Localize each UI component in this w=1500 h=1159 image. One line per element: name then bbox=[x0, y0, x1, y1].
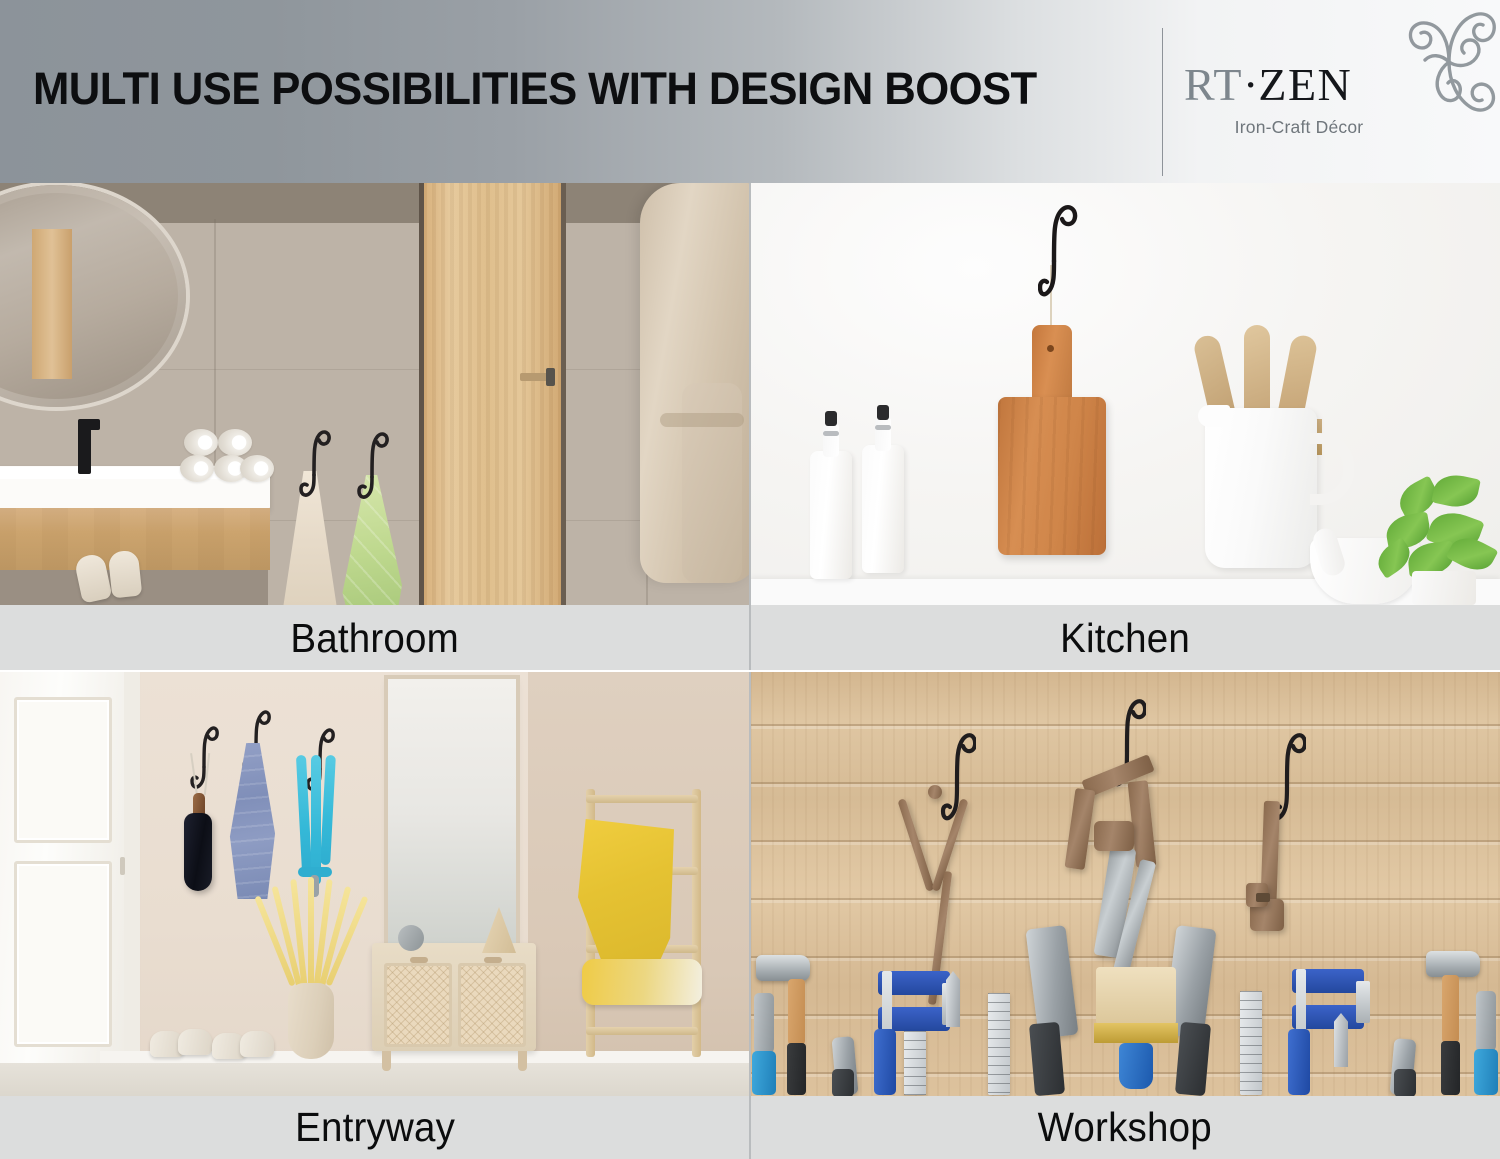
scrollwork-flourish-icon bbox=[1386, 4, 1498, 122]
brand-prefix: RT bbox=[1184, 59, 1243, 110]
label-bar-entryway: Entryway bbox=[0, 1096, 750, 1159]
workshop-photo bbox=[750, 671, 1500, 1096]
entryway-photo bbox=[0, 671, 750, 1096]
brand-separator: · bbox=[1243, 59, 1258, 110]
brand-suffix: ZEN bbox=[1258, 59, 1352, 110]
header-divider bbox=[1162, 28, 1163, 176]
wrought-iron-scroll-hook bbox=[297, 423, 331, 519]
brand-logo: RT·ZEN Iron-Craft Décor bbox=[1184, 60, 1414, 138]
yellow-pillow bbox=[582, 959, 702, 1005]
wood-cutting-board bbox=[998, 325, 1106, 555]
brand-tagline: Iron-Craft Décor bbox=[1184, 117, 1414, 138]
panel-workshop[interactable]: Workshop bbox=[750, 671, 1500, 1159]
panel-entryway[interactable]: Entryway bbox=[0, 671, 750, 1159]
label-bar-bathroom: Bathroom bbox=[0, 605, 750, 671]
wooden-spoon bbox=[1244, 325, 1270, 417]
label-bar-workshop: Workshop bbox=[750, 1096, 1500, 1159]
scene-grid: Bathroom bbox=[0, 183, 1500, 1159]
panel-label-bathroom: Bathroom bbox=[291, 615, 460, 662]
panel-label-kitchen: Kitchen bbox=[1060, 615, 1190, 662]
claw-hammer bbox=[756, 955, 810, 981]
horizontal-panel-divider bbox=[0, 670, 1500, 672]
utility-knife bbox=[946, 971, 960, 1027]
product-infographic: MULTI USE POSSIBILITIES WITH DESIGN BOOS… bbox=[0, 0, 1500, 1159]
panel-label-entryway: Entryway bbox=[295, 1104, 455, 1151]
brand-wordmark: RT·ZEN bbox=[1184, 60, 1414, 110]
panel-label-workshop: Workshop bbox=[1038, 1104, 1212, 1151]
white-pitcher bbox=[1205, 408, 1317, 568]
panel-kitchen[interactable]: Kitchen bbox=[750, 183, 1500, 671]
panel-bathroom[interactable]: Bathroom bbox=[0, 183, 750, 671]
kitchen-photo bbox=[750, 183, 1500, 605]
wrought-iron-scroll-hook bbox=[355, 425, 389, 521]
page-title: MULTI USE POSSIBILITIES WITH DESIGN BOOS… bbox=[33, 63, 1037, 115]
bathroom-photo bbox=[0, 183, 750, 605]
screwdriver bbox=[754, 993, 774, 1053]
paint-brush bbox=[1096, 967, 1176, 1025]
label-bar-kitchen: Kitchen bbox=[750, 605, 1500, 671]
header-banner: MULTI USE POSSIBILITIES WITH DESIGN BOOS… bbox=[0, 0, 1500, 183]
wrought-iron-scroll-hook bbox=[1038, 199, 1078, 315]
black-faucet bbox=[78, 426, 91, 474]
